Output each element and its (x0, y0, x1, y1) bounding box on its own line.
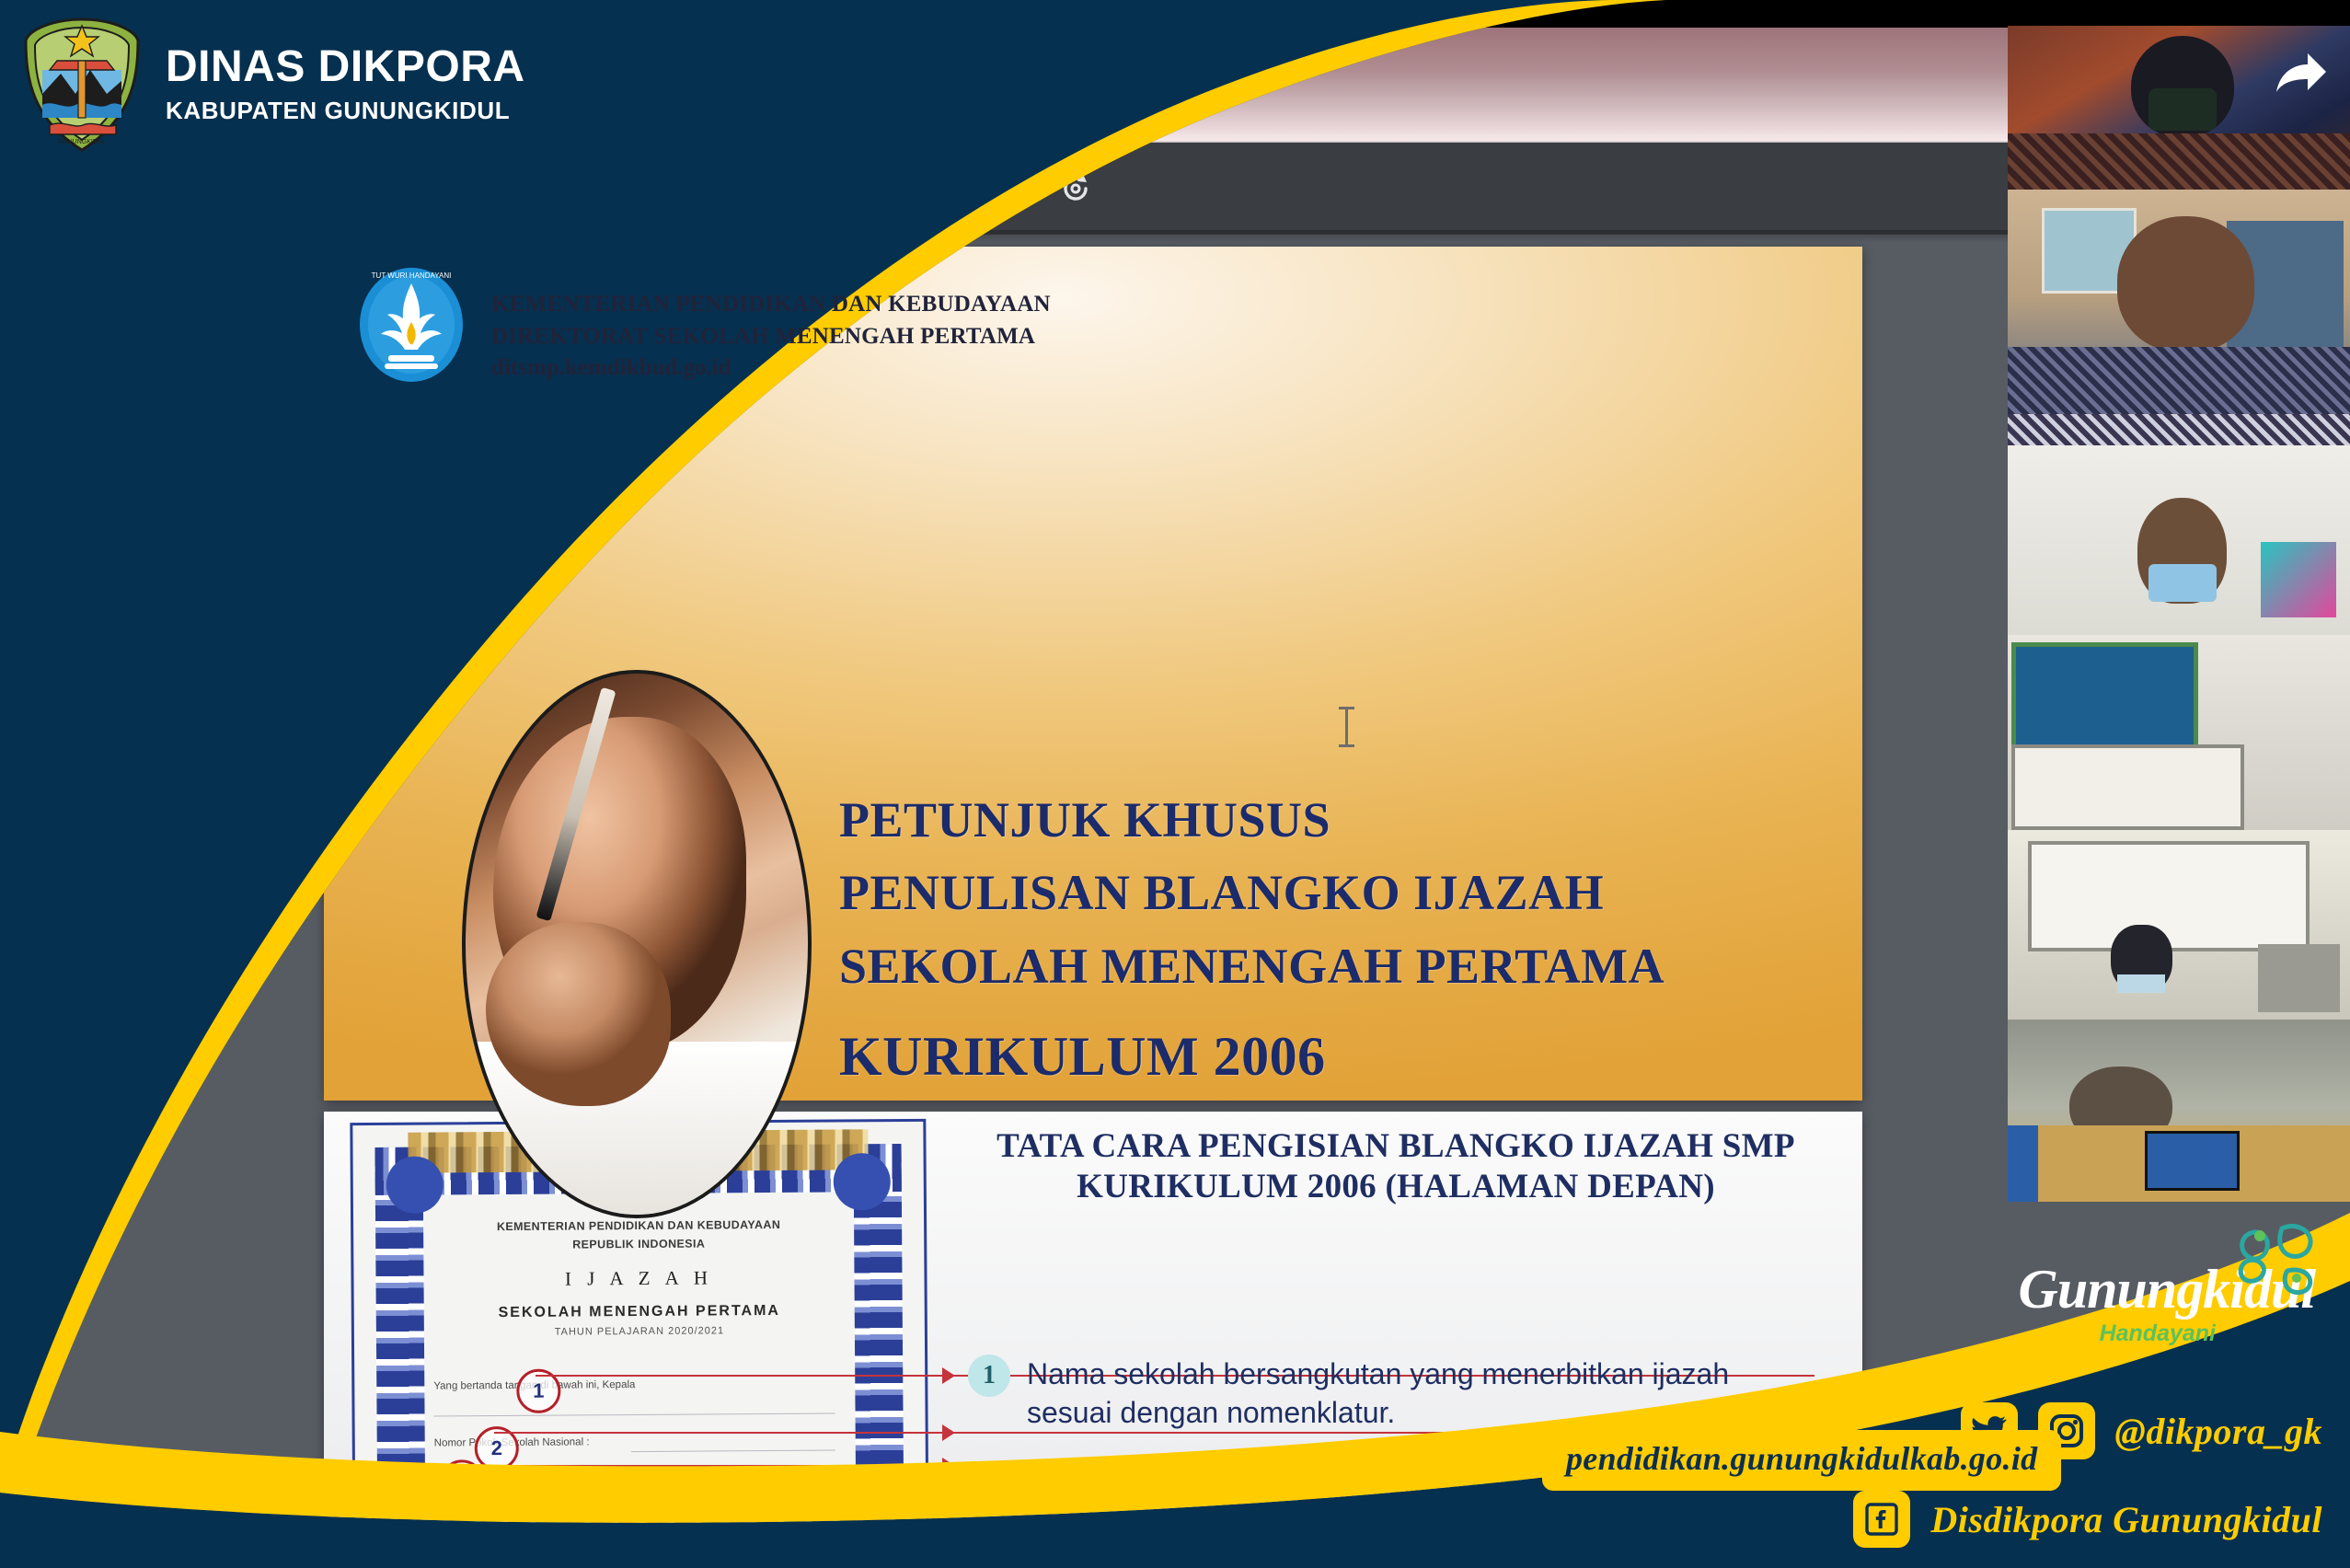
slide2-item-2-number: 2 (968, 1463, 1010, 1505)
gunungkidul-logo: Gunungkidul Handayani (2018, 1262, 2315, 1347)
slide2-item-1-number: 1 (968, 1355, 1010, 1397)
slide-title-line-1: PETUNJUK KHUSUS (839, 784, 1665, 857)
connector-arrow-2 (942, 1424, 955, 1441)
slide-ministry-header: TUT WURI HANDAYANI KEMENTERIAN PENDIDIKA… (357, 267, 1051, 385)
zoom-level-input[interactable]: 100% (803, 170, 891, 207)
slide2-list-item-2: 2 Nomor Pokok Sekolah Nasional (NPSN) (968, 1463, 1552, 1505)
zoom-in-button[interactable]: + (903, 171, 939, 206)
participant-tile-5[interactable] (2008, 830, 2350, 1020)
pdf-page-12[interactable]: TUT WURI HANDAYANI KEMENTERIAN PENDIDIKA… (324, 247, 1862, 1101)
screen: 12 / 55 − 100% + (0, 0, 2350, 1568)
slide-title-block: PETUNJUK KHUSUS PENULISAN BLANGKO IJAZAH… (839, 784, 1665, 1097)
connector-arrow-1 (942, 1367, 955, 1384)
page-title: DINAS DIKPORA (166, 44, 525, 90)
hand-writing-photo (462, 670, 812, 1218)
fit-page-icon[interactable] (1002, 168, 1043, 209)
ministry-text-block: KEMENTERIAN PENDIDIKAN DAN KEBUDAYAAN DI… (491, 267, 1051, 385)
toolbar-divider-1 (728, 173, 730, 204)
slide2-heading-line-2: KURIKULUM 2006 (HALAMAN DEPAN) (959, 1167, 1833, 1207)
page-separator: / (664, 175, 671, 202)
participant-tile-6[interactable] (2008, 1020, 2350, 1202)
gunungkidul-coat-of-arms-icon: GUNUNGKIDUL (22, 17, 142, 153)
slide-title-line-4: KURIKULUM 2006 (839, 1016, 1665, 1097)
participant-tile-2[interactable] (2008, 190, 2350, 414)
rotate-icon[interactable] (1055, 168, 1096, 209)
share-arrow-icon[interactable] (2275, 52, 2328, 96)
batik-ornament-icon (2232, 1214, 2321, 1295)
slide2-item-2-text: Nomor Pokok Sekolah Nasional (NPSN) (1027, 1463, 1552, 1502)
page-count-label: / 55 (664, 175, 704, 203)
pdf-toolbar: 12 / 55 − 100% + (607, 162, 1096, 215)
social-handle-2[interactable]: Disdikpora Gunungkidul (1930, 1498, 2322, 1541)
pdf-toolbar-shadow (0, 230, 2043, 243)
zoom-out-button[interactable]: − (754, 171, 790, 206)
slide2-item-3-number: 3 (968, 1539, 1010, 1568)
ministry-line-1: KEMENTERIAN PENDIDIKAN DAN KEBUDAYAAN (491, 289, 1051, 321)
ministry-url: ditsmp.kemdikbud.go.id (491, 352, 1051, 385)
slide-title-line-3: SEKOLAH MENENGAH PERTAMA (839, 930, 1665, 1003)
certificate-title: I J A Z A H (353, 1265, 924, 1292)
slide2-list-item-1: 1 Nama sekolah bersangkutan yang menerbi… (968, 1355, 1745, 1432)
text-cursor (1345, 707, 1348, 747)
participant-tile-1[interactable] (2008, 26, 2350, 190)
page-subtitle: KABUPATEN GUNUNGKIDUL (166, 97, 525, 125)
total-pages: 55 (677, 175, 704, 202)
slide2-heading: TATA CARA PENGISIAN BLANGKO IJAZAH SMP K… (959, 1126, 1833, 1208)
page-number-input[interactable]: 12 (607, 171, 653, 206)
slide2-list-item-3: 3 Nama nomenklatur kabupaten/kota*) ( (968, 1539, 1525, 1568)
participant-tile-3[interactable] (2008, 414, 2350, 635)
social-handle-1[interactable]: @dikpora_gk (2115, 1410, 2322, 1453)
website-url-chip[interactable]: pendidikan.gunungkidulkab.go.id (1542, 1430, 2061, 1491)
toolbar-divider-2 (963, 173, 965, 204)
slide-title-line-2: PENULISAN BLANGKO IJAZAH (839, 857, 1665, 929)
header-text: DINAS DIKPORA KABUPATEN GUNUNGKIDUL (166, 44, 525, 124)
certificate-corner-dot-right (834, 1153, 891, 1210)
svg-text:GUNUNGKIDUL: GUNUNGKIDUL (58, 139, 106, 145)
gunungkidul-tagline: Handayani (2018, 1320, 2216, 1347)
social-row-2: Disdikpora Gunungkidul (1853, 1491, 2322, 1548)
slide2-item-3-text: Nama nomenklatur kabupaten/kota*) ( (1027, 1539, 1525, 1568)
facebook-icon[interactable] (1853, 1491, 1910, 1548)
certificate-note: menerangkan bahwa (694, 1502, 779, 1513)
svg-text:TUT WURI HANDAYANI: TUT WURI HANDAYANI (372, 271, 452, 280)
slide2-heading-line-1: TATA CARA PENGISIAN BLANGKO IJAZAH SMP (959, 1126, 1833, 1167)
participant-video-strip (2008, 26, 2350, 1202)
participant-tile-4[interactable] (2008, 635, 2350, 830)
slide2-item-1-text: Nama sekolah bersangkutan yang menerbitk… (1027, 1355, 1745, 1432)
header-brand: GUNUNGKIDUL DINAS DIKPORA KABUPATEN GUNU… (22, 17, 525, 153)
connector-arrow-3 (942, 1458, 955, 1474)
website-url: pendidikan.gunungkidulkab.go.id (1566, 1440, 2037, 1477)
ministry-line-2: DIREKTORAT SEKOLAH MENENGAH PERTAMA (491, 321, 1051, 353)
certificate-corner-dot-left (386, 1156, 444, 1213)
tut-wuri-handayani-icon: TUT WURI HANDAYANI (357, 267, 466, 383)
